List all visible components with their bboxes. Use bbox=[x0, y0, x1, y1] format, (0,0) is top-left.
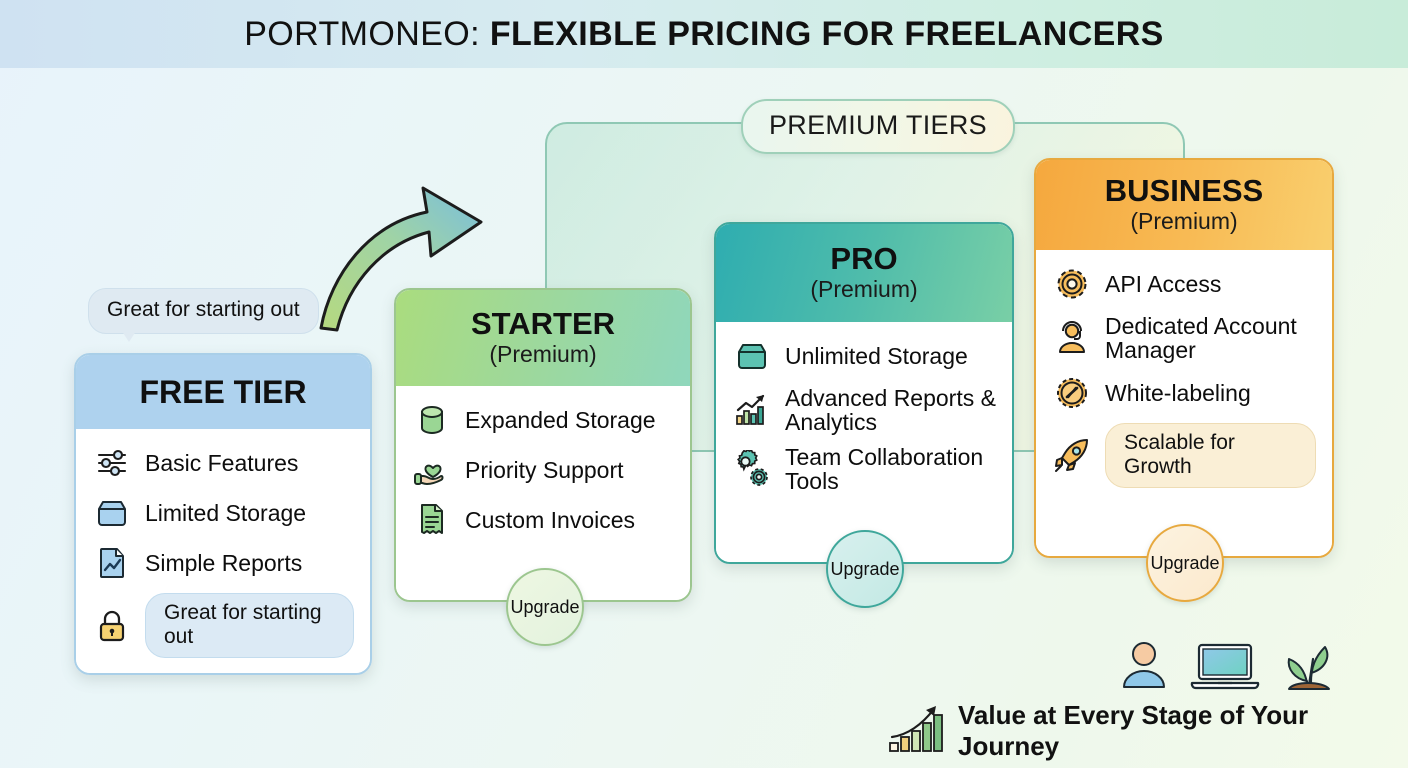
feature-label: API Access bbox=[1105, 272, 1221, 296]
feature-row: Limited Storage bbox=[92, 493, 354, 533]
feature-label: Custom Invoices bbox=[465, 508, 635, 532]
feature-label: Basic Features bbox=[145, 451, 298, 475]
feature-label: Expanded Storage bbox=[465, 408, 656, 432]
storage-box-icon bbox=[732, 336, 772, 376]
plan-header-starter: STARTER (Premium) bbox=[396, 290, 690, 386]
upgrade-button-business[interactable]: Upgrade bbox=[1146, 524, 1224, 602]
feature-row: Custom Invoices bbox=[412, 500, 674, 540]
hand-heart-icon bbox=[412, 450, 452, 490]
feature-label: Priority Support bbox=[465, 458, 624, 482]
plan-card-business[interactable]: BUSINESS (Premium) API Access bbox=[1034, 158, 1334, 558]
header-band: PORTMONEO: FLEXIBLE PRICING FOR FREELANC… bbox=[0, 0, 1408, 68]
plan-subtitle: (Premium) bbox=[489, 341, 596, 368]
growth-chart-icon bbox=[886, 703, 948, 760]
feature-row: Expanded Storage bbox=[412, 400, 674, 440]
plan-features-free: Basic Features Limited Storage bbox=[76, 429, 370, 673]
tooltip-tail-icon bbox=[118, 325, 140, 342]
report-document-icon bbox=[92, 543, 132, 583]
feature-label: Advanced Reports & Analytics bbox=[785, 386, 996, 435]
sliders-icon bbox=[92, 443, 132, 483]
seal-badge-icon bbox=[1052, 373, 1092, 413]
page-title: PORTMONEO: FLEXIBLE PRICING FOR FREELANC… bbox=[244, 15, 1164, 54]
plan-header-business: BUSINESS (Premium) bbox=[1036, 160, 1332, 250]
status-badge: Scalable for Growth bbox=[1105, 423, 1316, 488]
storage-box-icon bbox=[92, 493, 132, 533]
feature-row: Team Collaboration Tools bbox=[732, 445, 996, 494]
feature-label: White-labeling bbox=[1105, 381, 1251, 405]
person-icon bbox=[1115, 637, 1173, 700]
feature-label: Unlimited Storage bbox=[785, 344, 968, 368]
lock-icon bbox=[92, 606, 132, 646]
premium-tiers-label: PREMIUM TIERS bbox=[741, 99, 1015, 154]
plan-title: FREE TIER bbox=[139, 376, 306, 409]
feature-row: Dedicated Account Manager bbox=[1052, 314, 1316, 363]
plan-card-starter[interactable]: STARTER (Premium) Expanded Storage bbox=[394, 288, 692, 602]
upgrade-button-pro[interactable]: Upgrade bbox=[826, 530, 904, 608]
feature-row: White-labeling bbox=[1052, 373, 1316, 413]
plan-header-free: FREE TIER bbox=[76, 355, 370, 429]
footer-tagline: Value at Every Stage of Your Journey bbox=[958, 700, 1408, 762]
growth-chart-icon bbox=[732, 390, 772, 430]
plan-card-pro[interactable]: PRO (Premium) Unlimited Storage bbox=[714, 222, 1014, 564]
database-cylinder-icon bbox=[412, 400, 452, 440]
feature-row: Basic Features bbox=[92, 443, 354, 483]
feature-label: Limited Storage bbox=[145, 501, 306, 525]
title-light-part: PORTMONEO: bbox=[244, 15, 490, 53]
plan-features-pro: Unlimited Storage Advanced Reports bbox=[716, 322, 1012, 562]
feature-row: Unlimited Storage bbox=[732, 336, 996, 376]
plan-badge-row: Scalable for Growth bbox=[1052, 423, 1316, 488]
headset-person-icon bbox=[1052, 318, 1092, 358]
feature-label: Dedicated Account Manager bbox=[1105, 314, 1316, 363]
plan-card-free[interactable]: FREE TIER Basic Features bbox=[74, 353, 372, 675]
feature-row: Simple Reports bbox=[92, 543, 354, 583]
plan-subtitle: (Premium) bbox=[1130, 208, 1237, 235]
title-bold-part: FLEXIBLE PRICING FOR FREELANCERS bbox=[490, 15, 1164, 53]
gear-icon bbox=[1052, 264, 1092, 304]
plan-badge-row: Great for starting out bbox=[92, 593, 354, 658]
upgrade-button-starter[interactable]: Upgrade bbox=[506, 568, 584, 646]
feature-row: API Access bbox=[1052, 264, 1316, 304]
invoice-icon bbox=[412, 500, 452, 540]
feature-row: Priority Support bbox=[412, 450, 674, 490]
plan-title: STARTER bbox=[471, 308, 615, 340]
plan-title: BUSINESS bbox=[1105, 175, 1263, 207]
laptop-icon bbox=[1189, 637, 1261, 700]
plan-title: PRO bbox=[830, 243, 897, 275]
plan-subtitle: (Premium) bbox=[810, 276, 917, 303]
feature-label: Team Collaboration Tools bbox=[785, 445, 996, 494]
feature-row: Advanced Reports & Analytics bbox=[732, 386, 996, 435]
infographic-canvas: PORTMONEO: FLEXIBLE PRICING FOR FREELANC… bbox=[0, 0, 1408, 768]
footer-tagline-row: Value at Every Stage of Your Journey bbox=[886, 700, 1408, 762]
plan-features-business: API Access Dedicated Account Manager bbox=[1036, 250, 1332, 556]
feature-label: Simple Reports bbox=[145, 551, 302, 575]
footer-icon-cluster bbox=[1115, 638, 1365, 700]
plan-header-pro: PRO (Premium) bbox=[716, 224, 1012, 322]
gears-icon bbox=[732, 449, 772, 489]
sapling-icon bbox=[1277, 637, 1341, 700]
rocket-icon bbox=[1052, 435, 1092, 475]
status-badge: Great for starting out bbox=[145, 593, 354, 658]
